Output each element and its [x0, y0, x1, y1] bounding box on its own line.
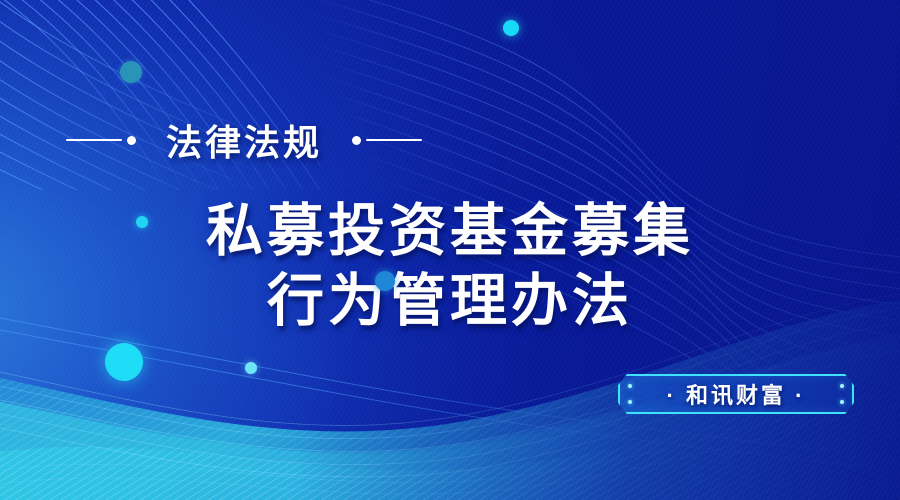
title-line-1: 私募投资基金募集 [0, 196, 900, 266]
badge-pin-bottom-right [840, 400, 844, 404]
title-line-2: 行为管理办法 [0, 266, 900, 336]
decorative-rule-left [66, 134, 136, 146]
badge-pin-bottom-left [628, 400, 632, 404]
rule-dot-left [127, 136, 136, 145]
teal-dot-upper-left [120, 61, 142, 83]
decorative-rule-right [352, 134, 422, 146]
badge-pin-top-left [628, 384, 632, 388]
kicker-label: 法律法规 [166, 114, 322, 166]
badge-pin-top-right [840, 384, 844, 388]
brand-badge[interactable]: · 和讯财富 · [618, 374, 854, 414]
cyan-dot-large-lower-left [105, 343, 143, 381]
rule-line-right [366, 139, 422, 141]
cyan-dot-small-lower [245, 362, 257, 374]
cyan-dot-top-center [503, 20, 519, 36]
rule-line-left [66, 139, 122, 141]
rule-dot-right [352, 136, 361, 145]
cyan-dot-title-overlap [375, 271, 395, 291]
legal-regulation-banner: 法律法规 私募投资基金募集 行为管理办法 · 和讯财富 · [0, 0, 900, 500]
brand-badge-label: · 和讯财富 · [667, 378, 806, 410]
kicker-row: 法律法规 [0, 112, 900, 168]
page-title: 私募投资基金募集 行为管理办法 [0, 196, 900, 336]
